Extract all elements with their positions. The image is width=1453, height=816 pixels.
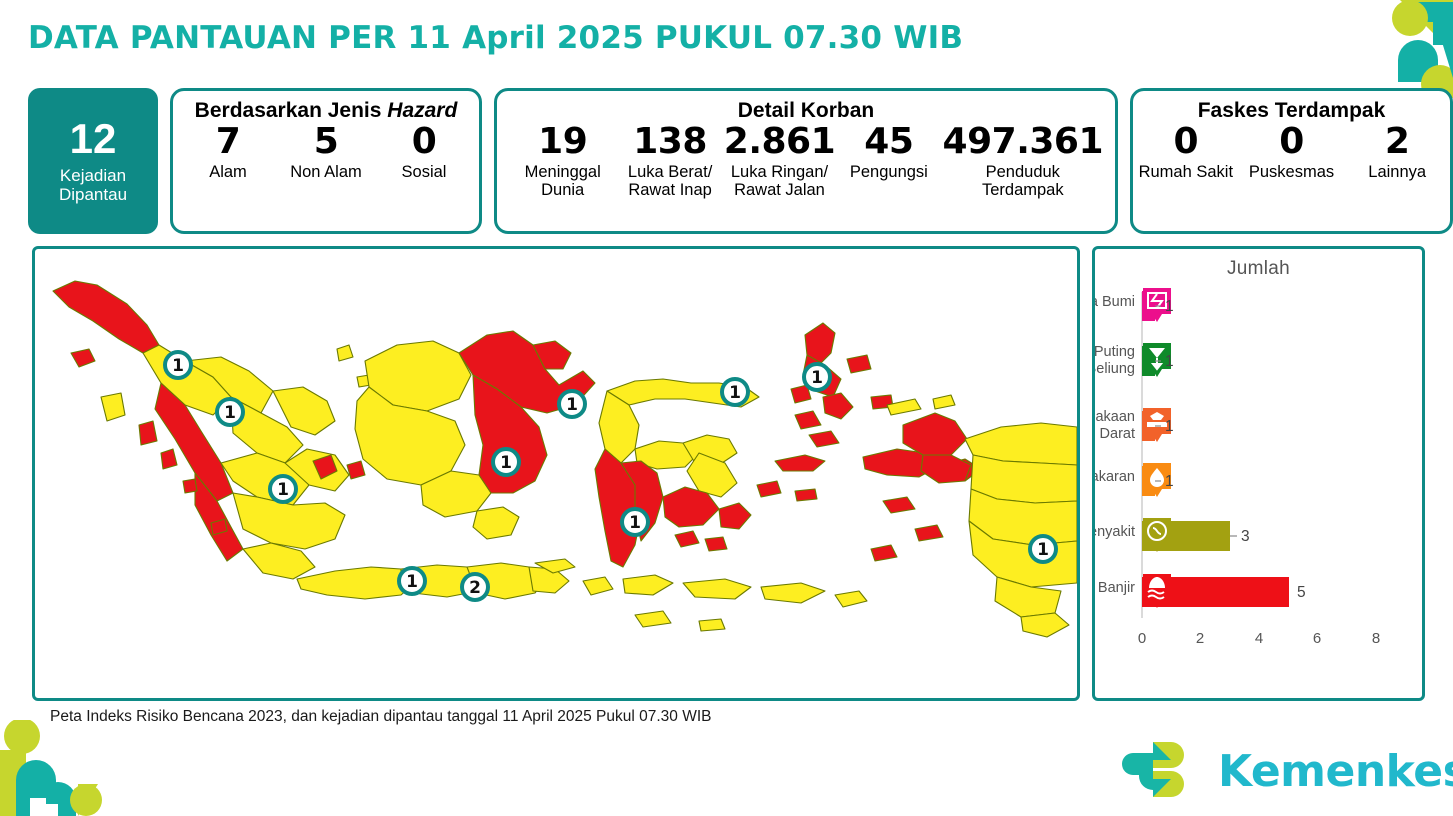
hazard-title-plain: Berdasarkan Jenis [195, 99, 388, 122]
korban-luka-berat-label-1: Luka Berat/ [628, 163, 712, 181]
chart-xtick: 6 [1313, 630, 1321, 647]
chart-value-label: 1 [1165, 353, 1174, 370]
korban-metric-luka-ringan: 2.861 Luka Ringan/ Rawat Jalan [724, 123, 835, 199]
map-marker[interactable]: 1 [399, 568, 425, 594]
kemenkes-logo-mark [1118, 738, 1204, 804]
decorative-corner-bottom-left [0, 720, 132, 816]
chart-value-label: 5 [1297, 584, 1306, 601]
korban-meninggal-value: 19 [538, 123, 587, 161]
footer-note: Peta Indeks Risiko Bencana 2023, dan kej… [50, 708, 712, 726]
korban-luka-ringan-label-2: Rawat Jalan [731, 181, 828, 199]
hazard-alam-value: 7 [216, 123, 241, 161]
kemenkes-logo: Kemenkes [1118, 738, 1453, 804]
chart-cat-label: Gempa Bumi [1095, 294, 1135, 310]
korban-penduduk-label-1: Penduduk [982, 163, 1064, 181]
map-marker[interactable]: 1 [622, 509, 648, 535]
chart-value-label: 3 [1241, 528, 1250, 545]
korban-penduduk-label-2: Terdampak [982, 181, 1064, 199]
chart-row-klb-penyakit: KLB-Penyakit 3 [1095, 518, 1250, 552]
korban-card: Detail Korban 19 Meninggal Dunia 138 Luk… [494, 88, 1118, 234]
map-marker[interactable]: 1 [217, 399, 243, 425]
faskes-metric-puskesmas: 0 Puskesmas [1239, 123, 1345, 181]
chart-x-axis: 0 2 4 6 8 [1138, 630, 1380, 647]
map-marker[interactable]: 2 [462, 574, 488, 600]
korban-meninggal-label-1: Meninggal [525, 163, 601, 181]
chart-row-gempa-bumi: Gempa Bumi 1 [1095, 288, 1174, 322]
map-marker[interactable]: 1 [1030, 536, 1056, 562]
chart-cat-label: Kebakaran [1095, 469, 1135, 485]
hazard-sosial-label: Sosial [402, 163, 447, 181]
page-title: DATA PANTAUAN PER 11 April 2025 PUKUL 07… [28, 20, 963, 56]
kejadian-dipantau-card: 12 Kejadian Dipantau [28, 88, 158, 234]
korban-luka-berat-label-2: Rawat Inap [628, 181, 712, 199]
hazard-card-title: Berdasarkan Jenis Hazard [173, 99, 479, 123]
kejadian-dipantau-label-1: Kejadian [59, 166, 127, 185]
chart-cat-label: KLB-Penyakit [1095, 524, 1135, 540]
map-marker[interactable]: 1 [804, 364, 830, 390]
chart-cat-label: Banjir [1098, 580, 1135, 596]
faskes-card-title: Faskes Terdampak [1133, 99, 1450, 123]
korban-metric-pengungsi: 45 Pengungsi [835, 123, 942, 181]
svg-text:1: 1 [811, 368, 823, 388]
svg-text:1: 1 [406, 572, 418, 592]
map-marker[interactable]: 1 [493, 449, 519, 475]
svg-text:2: 2 [469, 578, 481, 598]
korban-luka-ringan-value: 2.861 [724, 123, 835, 161]
kejadian-dipantau-value: 12 [70, 118, 117, 160]
indonesia-risk-map-panel[interactable]: 1 1 1 1 2 1 1 [32, 246, 1080, 701]
hazard-metric-non-alam: 5 Non Alam [277, 123, 375, 181]
korban-metric-penduduk: 497.361 Penduduk Terdampak [943, 123, 1103, 199]
faskes-card: Faskes Terdampak 0 Rumah Sakit 0 Puskesm… [1130, 88, 1453, 234]
faskes-metric-lainnya: 2 Lainnya [1344, 123, 1450, 181]
map-landmasses [53, 281, 1077, 637]
chart-row-angin-puting-beliung: Angin PutingBeliung 1 [1095, 343, 1174, 377]
faskes-metric-rumah-sakit: 0 Rumah Sakit [1133, 123, 1239, 181]
chart-row-kebakaran: Kebakaran 1 [1095, 463, 1174, 497]
faskes-rumah-sakit-value: 0 [1174, 123, 1199, 161]
svg-text:1: 1 [729, 383, 741, 403]
hazard-metric-sosial: 0 Sosial [375, 123, 473, 181]
chart-xtick: 4 [1255, 630, 1263, 647]
chart-title: Jumlah [1095, 258, 1422, 280]
svg-text:1: 1 [172, 356, 184, 376]
svg-text:1: 1 [1037, 540, 1049, 560]
faskes-puskesmas-label: Puskesmas [1249, 163, 1334, 181]
korban-metric-meninggal: 19 Meninggal Dunia [509, 123, 616, 199]
korban-pengungsi-value: 45 [864, 123, 913, 161]
hazard-card: Berdasarkan Jenis Hazard 7 Alam 5 Non Al… [170, 88, 482, 234]
hazard-non-alam-value: 5 [314, 123, 339, 161]
kemenkes-wordmark: Kemenkes [1218, 746, 1453, 797]
hazard-sosial-value: 0 [412, 123, 437, 161]
svg-text:1: 1 [224, 403, 236, 423]
korban-meninggal-label-2: Dunia [525, 181, 601, 199]
faskes-puskesmas-value: 0 [1279, 123, 1304, 161]
hazard-bar-chart[interactable]: Gempa Bumi 1 Angin PutingBeliung [1095, 280, 1422, 672]
map-marker[interactable]: 1 [559, 391, 585, 417]
korban-card-title: Detail Korban [497, 99, 1115, 123]
chart-row-kecelakaan-darat: KecelakaanDarat 1 [1095, 408, 1174, 442]
chart-xtick: 0 [1138, 630, 1146, 647]
chart-xtick: 2 [1196, 630, 1204, 647]
korban-penduduk-value: 497.361 [943, 123, 1103, 161]
hazard-title-italic: Hazard [387, 99, 457, 122]
chart-value-label: 1 [1165, 298, 1174, 315]
faskes-lainnya-label: Lainnya [1368, 163, 1426, 181]
map-marker[interactable]: 1 [165, 352, 191, 378]
chart-cat-label: KecelakaanDarat [1095, 409, 1135, 442]
kejadian-dipantau-label-2: Dipantau [59, 185, 127, 204]
korban-pengungsi-label-1: Pengungsi [850, 163, 928, 181]
indonesia-map[interactable]: 1 1 1 1 2 1 1 [35, 249, 1077, 698]
chart-cat-label: Angin PutingBeliung [1095, 344, 1135, 377]
svg-text:1: 1 [629, 513, 641, 533]
hazard-alam-label: Alam [209, 163, 247, 181]
svg-text:1: 1 [566, 395, 578, 415]
chart-value-label: 1 [1165, 473, 1174, 490]
chart-row-banjir: Banjir 5 [1098, 574, 1306, 608]
chart-value-label: 1 [1165, 418, 1174, 435]
korban-luka-berat-value: 138 [633, 123, 707, 161]
svg-text:1: 1 [500, 453, 512, 473]
hazard-count-chart-panel[interactable]: Jumlah Gempa Bumi [1092, 246, 1425, 701]
faskes-lainnya-value: 2 [1385, 123, 1410, 161]
korban-metric-luka-berat: 138 Luka Berat/ Rawat Inap [616, 123, 723, 199]
faskes-rumah-sakit-label: Rumah Sakit [1139, 163, 1233, 181]
svg-text:1: 1 [277, 480, 289, 500]
map-marker[interactable]: 1 [270, 476, 296, 502]
chart-xtick: 8 [1372, 630, 1380, 647]
map-marker[interactable]: 1 [722, 379, 748, 405]
korban-luka-ringan-label-1: Luka Ringan/ [731, 163, 828, 181]
hazard-non-alam-label: Non Alam [290, 163, 362, 181]
hazard-metric-alam: 7 Alam [179, 123, 277, 181]
